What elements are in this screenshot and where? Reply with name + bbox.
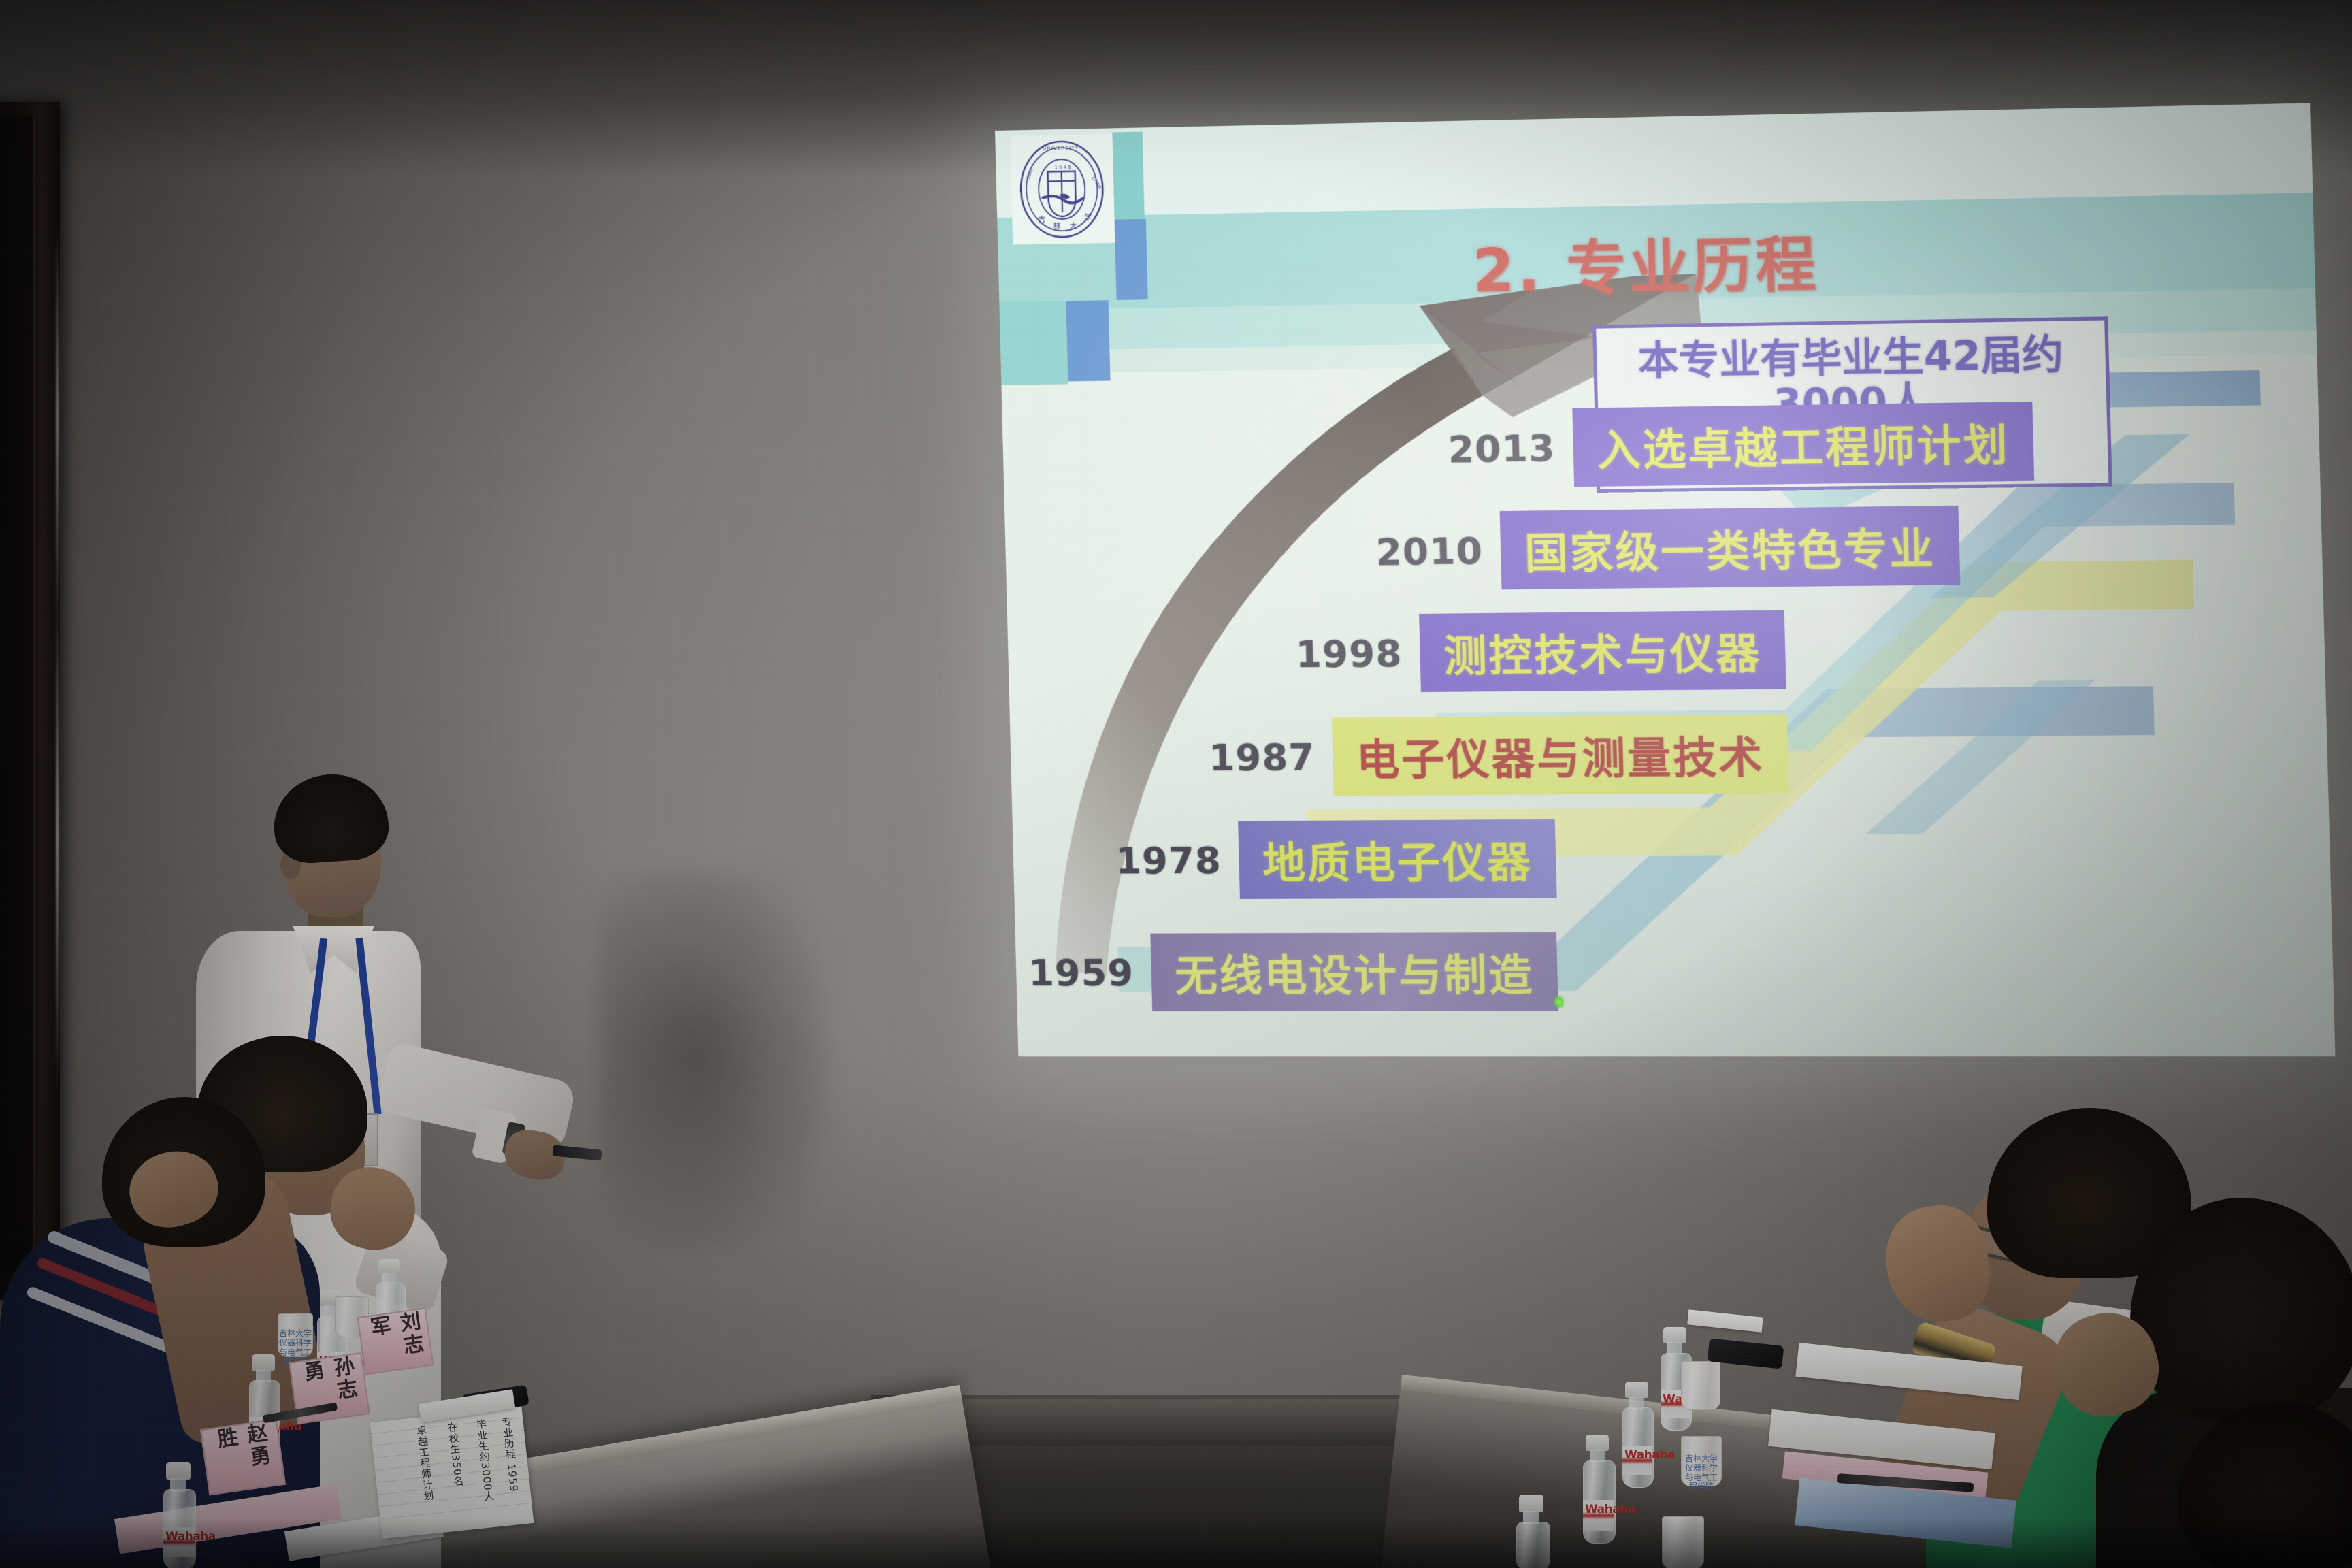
room-vignette [0,0,2352,1568]
conference-room-scene: UNIVERSITY JILIN CHINA 吉林大学 1 9 4 6 [0,0,2352,1568]
